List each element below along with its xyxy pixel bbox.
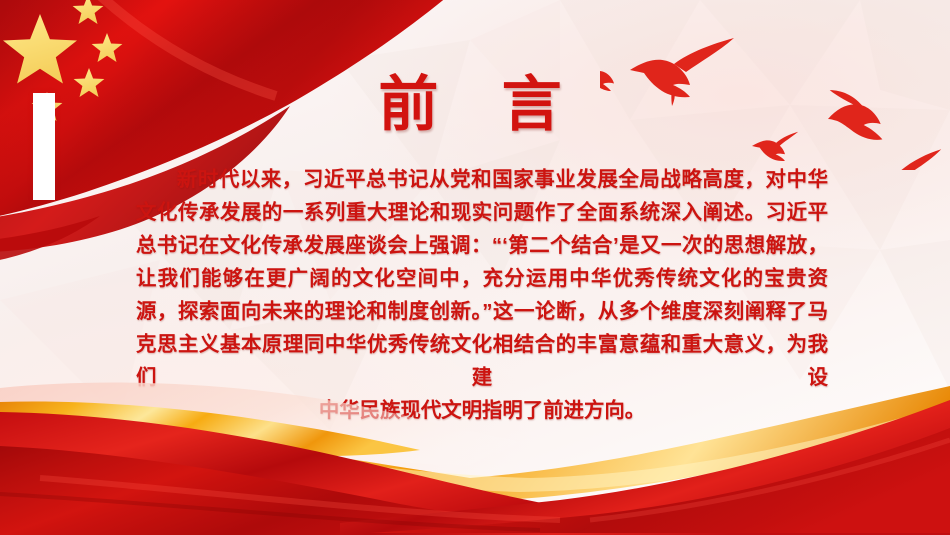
red-gold-ribbon-decoration — [0, 370, 950, 535]
presentation-slide: 前 言 新时代以来，习近平总书记从党和国家事业发展全局战略高度，对中华文化传承发… — [0, 0, 950, 535]
page-title: 前 言 — [0, 74, 950, 136]
preface-paragraph: 新时代以来，习近平总书记从党和国家事业发展全局战略高度，对中华文化传承发展的一系… — [136, 164, 828, 395]
